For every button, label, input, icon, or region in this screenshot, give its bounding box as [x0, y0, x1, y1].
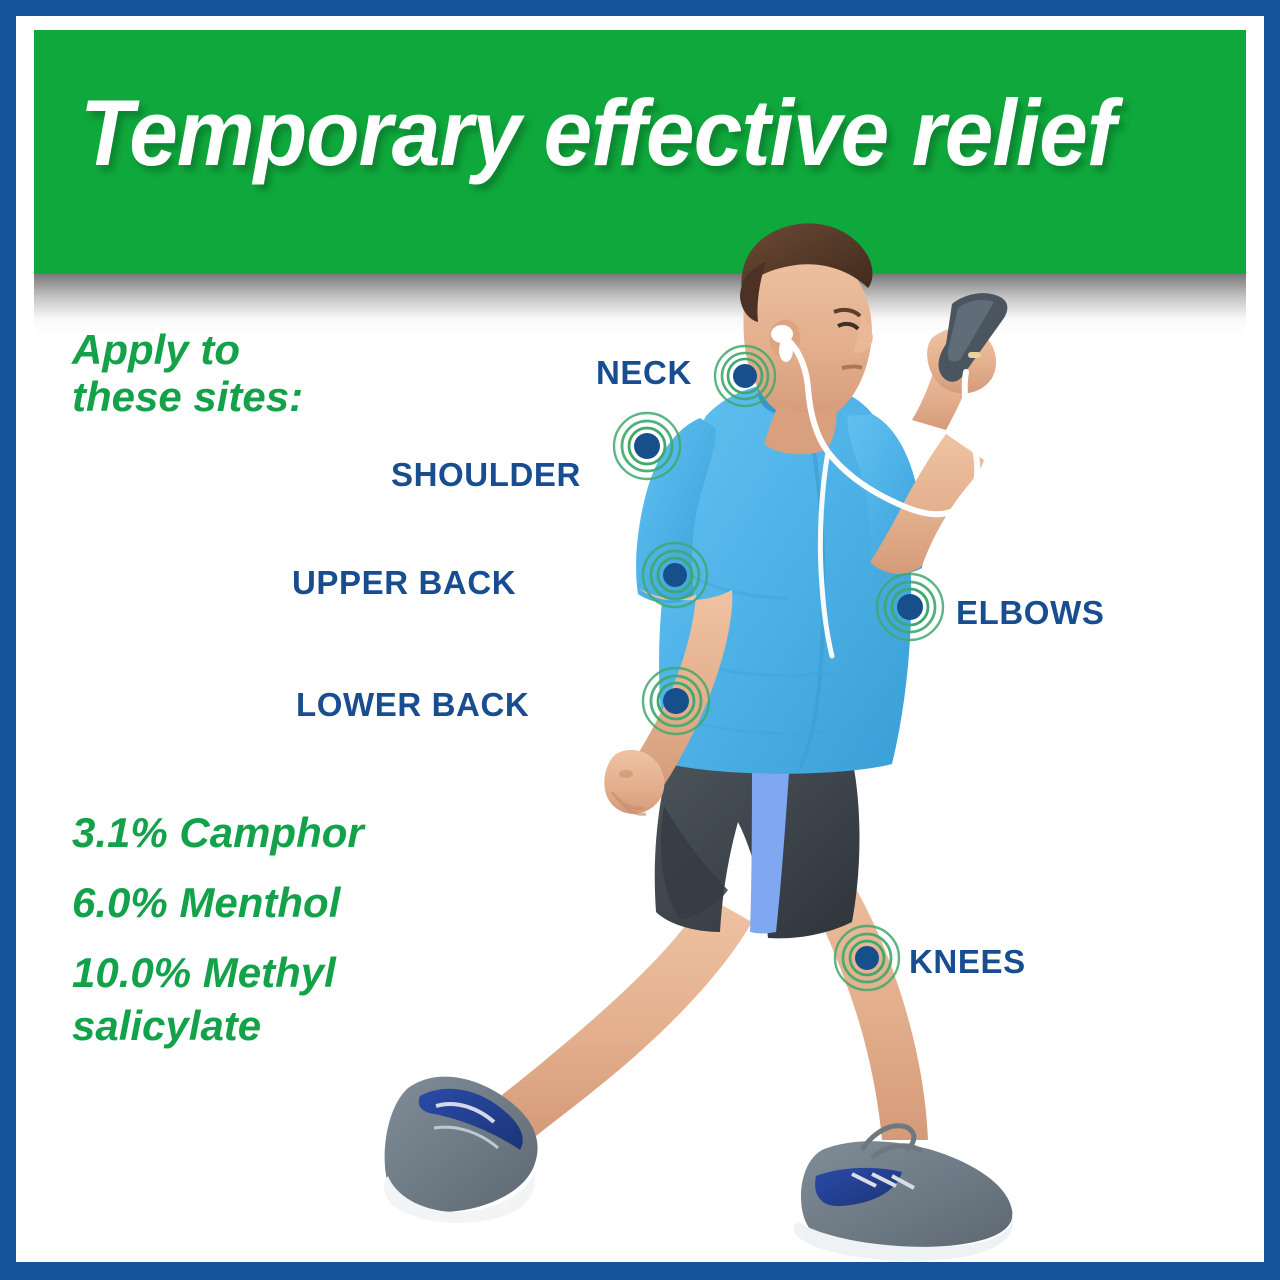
site-label-shoulder: SHOULDER: [391, 456, 581, 494]
apply-heading-line-1: Apply to: [72, 326, 303, 373]
poster-card: Temporary effective relief Apply to thes…: [16, 16, 1264, 1262]
site-label-elbows: ELBOWS: [956, 594, 1104, 632]
apply-to-sites-heading: Apply to these sites:: [72, 326, 303, 420]
active-ingredients-list: 3.1% Camphor 6.0% Menthol 10.0% Methyl s…: [72, 806, 422, 1053]
apply-heading-line-2: these sites:: [72, 373, 303, 420]
site-label-lower-back: LOWER BACK: [296, 686, 529, 724]
target-marker-upper-back: [641, 541, 709, 609]
page-title: Temporary effective relief: [80, 86, 1115, 180]
target-marker-neck: [713, 344, 777, 408]
target-marker-knees: [833, 924, 901, 992]
ingredient-item: 10.0% Methyl salicylate: [72, 946, 422, 1054]
ingredient-item: 6.0% Menthol: [72, 876, 422, 930]
target-marker-shoulder: [612, 411, 682, 481]
header-banner: Temporary effective relief: [34, 30, 1246, 274]
target-marker-lower-back: [641, 666, 711, 736]
site-label-knees: KNEES: [909, 943, 1026, 981]
site-label-upper-back: UPPER BACK: [292, 564, 516, 602]
target-marker-elbows: [875, 572, 945, 642]
ingredient-item: 3.1% Camphor: [72, 806, 422, 860]
site-label-neck: NECK: [596, 354, 692, 392]
poster-frame: Temporary effective relief Apply to thes…: [0, 0, 1280, 1280]
